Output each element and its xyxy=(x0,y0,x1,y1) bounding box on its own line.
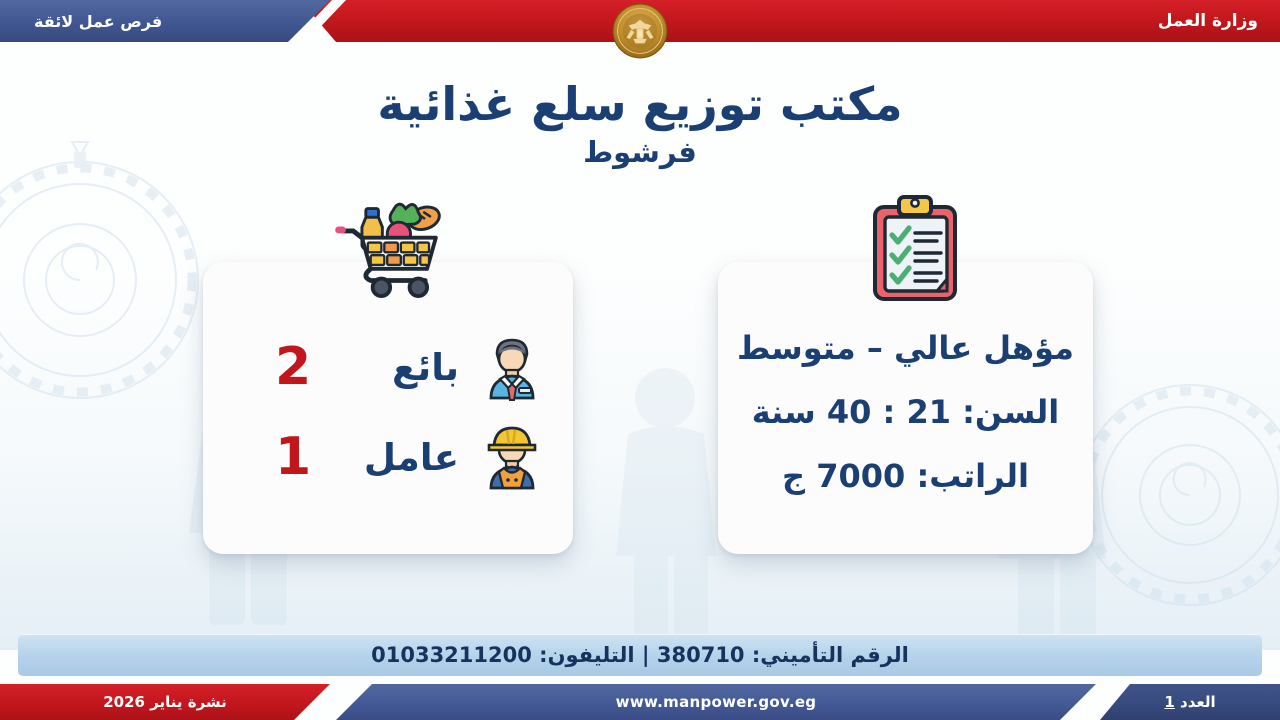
jobs-list: بائع 2 عامل 1 xyxy=(203,322,573,502)
job-label-worker: عامل xyxy=(363,436,459,479)
header-slogan-label: فرص عمل لائقة xyxy=(34,0,162,42)
footer-issue-number: 1 xyxy=(1164,693,1174,711)
requirement-age: السن: 21 : 40 سنة xyxy=(752,393,1060,431)
job-count-worker: 1 xyxy=(229,431,311,483)
requirement-salary: الراتب: 7000 ج xyxy=(782,457,1029,495)
contact-info-bar: الرقم التأميني: 380710 | التليفون: 01033… xyxy=(18,634,1262,676)
page-title: مكتب توزيع سلع غذائية xyxy=(0,78,1280,131)
footer-issue-label: العدد xyxy=(1180,693,1216,711)
jobs-card: بائع 2 عامل 1 xyxy=(203,262,573,554)
requirement-qualification: مؤهل عالي – متوسط xyxy=(737,329,1074,367)
job-row-salesperson: بائع 2 xyxy=(229,322,547,412)
footer-website-link[interactable]: www.manpower.gov.eg xyxy=(336,684,1096,720)
page-title-block: مكتب توزيع سلع غذائية فرشوط xyxy=(0,78,1280,169)
requirements-card: مؤهل عالي – متوسط السن: 21 : 40 سنة الرا… xyxy=(718,262,1093,554)
construction-worker-icon xyxy=(477,422,547,492)
page-header: وزارة العمل فرص عمل لائقة xyxy=(0,0,1280,42)
salesperson-icon xyxy=(477,332,547,402)
header-ministry-label: وزارة العمل xyxy=(1158,0,1258,42)
page-subtitle: فرشوط xyxy=(0,135,1280,169)
requirements-list: مؤهل عالي – متوسط السن: 21 : 40 سنة الرا… xyxy=(718,262,1093,554)
poster-page: وزارة العمل فرص عمل لائقة xyxy=(0,0,1280,720)
job-count-salesperson: 2 xyxy=(229,341,311,393)
job-row-worker: عامل 1 xyxy=(229,412,547,502)
footer-issue-badge: العدد 1 xyxy=(1100,684,1280,720)
clipboard-checklist-icon xyxy=(865,193,965,303)
footer-bulletin-label: نشرة يناير 2026 xyxy=(0,684,330,720)
page-footer: نشرة يناير 2026 www.manpower.gov.eg العد… xyxy=(0,684,1280,720)
job-label-salesperson: بائع xyxy=(363,346,459,389)
shopping-cart-icon xyxy=(335,193,455,298)
ministry-emblem-icon xyxy=(612,3,668,59)
header-red-band xyxy=(300,0,1280,42)
